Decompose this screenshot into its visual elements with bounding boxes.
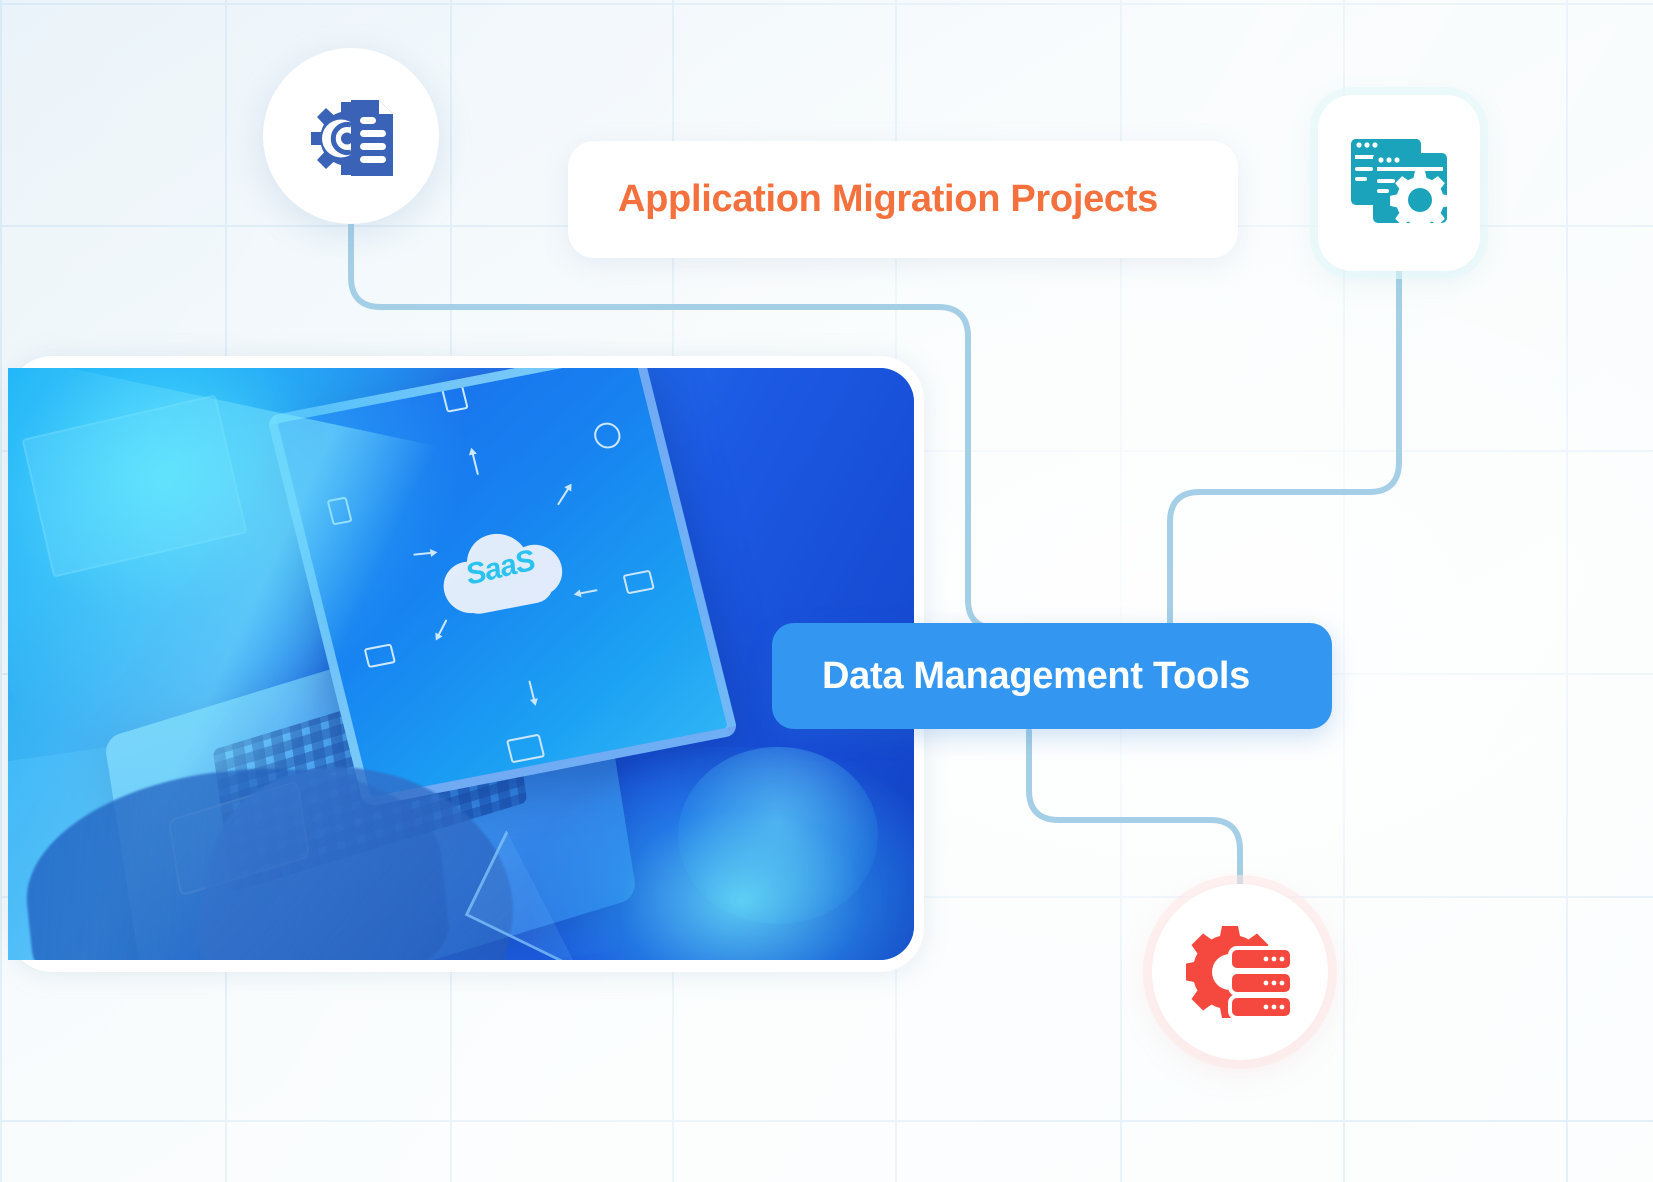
document-gear-icon: [299, 84, 403, 188]
connector-data-to-database: [1029, 731, 1240, 884]
database-gear-icon: [1186, 920, 1294, 1024]
database-gear-badge[interactable]: [1152, 884, 1328, 1060]
label-card-data-management[interactable]: Data Management Tools: [772, 623, 1332, 729]
label-card-application-migration[interactable]: Application Migration Projects: [568, 141, 1238, 258]
grid-line-vertical-0: [0, 0, 2, 1182]
grid-line-horizontal-5: [0, 1120, 1653, 1122]
browser-window-gear-icon: [1347, 133, 1451, 233]
connector-window-to-data: [1170, 271, 1399, 626]
browser-window-gear-badge[interactable]: [1318, 95, 1480, 271]
label-data-management-text: Data Management Tools: [822, 655, 1250, 698]
label-application-migration-text: Application Migration Projects: [618, 178, 1158, 221]
grid-line-horizontal-0: [0, 3, 1653, 5]
diagram-canvas: SaaS: [0, 0, 1653, 1182]
document-gear-badge[interactable]: [263, 48, 439, 224]
grid-line-vertical-7: [1566, 0, 1568, 1182]
